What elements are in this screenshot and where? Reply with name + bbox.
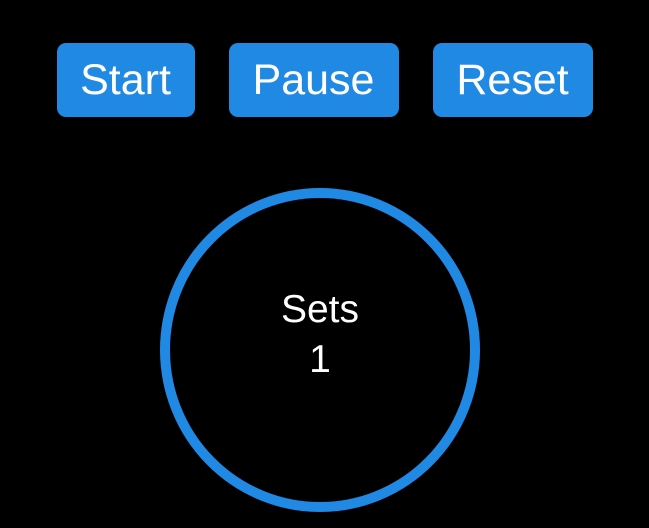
progress-ring-icon [160, 188, 480, 512]
controls-bar: Start Pause Reset [0, 43, 649, 117]
start-button[interactable]: Start [57, 43, 195, 117]
timer-circle[interactable]: Sets 1 [160, 188, 480, 512]
pause-button[interactable]: Pause [229, 43, 399, 117]
timer-app-root: Start Pause Reset Sets 1 [0, 0, 649, 528]
reset-button[interactable]: Reset [433, 43, 593, 117]
